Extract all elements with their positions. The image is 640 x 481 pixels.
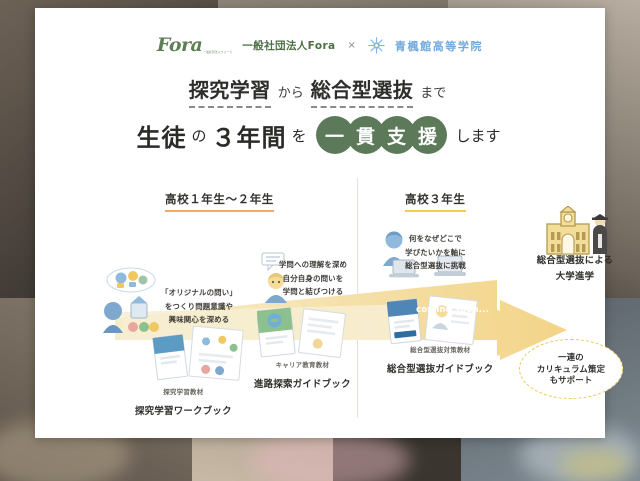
outcome-line-1: 総合型選抜による bbox=[519, 253, 631, 269]
material-1-category: 探究学習教材 bbox=[131, 387, 236, 396]
material-label-admission-guidebook: 総合型選抜対策教材 総合型選抜ガイドブック bbox=[383, 345, 497, 376]
headline-particle-wo: を bbox=[288, 125, 309, 146]
material-2-title: 進路探索ガイドブック bbox=[250, 376, 355, 390]
description-grade-1: 「オリジナルの問い」 をつくり問題意識や 興味関心を深める bbox=[143, 286, 255, 327]
support-line-3: もサポート bbox=[550, 375, 593, 386]
description-grade-2-line-3: 学問と結びつける bbox=[263, 285, 363, 299]
headline-tail-shimasu: します bbox=[453, 125, 504, 146]
outcome-line-2: 大学進学 bbox=[519, 269, 631, 285]
coming-soon-label: coming soon... bbox=[416, 305, 489, 315]
consistent-support-badge-group: 一 貫 支 援 bbox=[316, 116, 447, 154]
pill-char-4: 援 bbox=[409, 116, 447, 154]
curriculum-support-badge: 一連の カリキュラム策定 もサポート bbox=[519, 339, 623, 399]
headline-particle-kara: から bbox=[273, 82, 309, 104]
description-grade-1-line-1: 「オリジナルの問い」 bbox=[143, 286, 255, 300]
description-grade-1-line-3: 興味関心を深める bbox=[143, 313, 255, 327]
fora-logo-subtext: 一般社団法人フォーラ bbox=[203, 50, 232, 54]
outcome-text: 総合型選抜による 大学進学 bbox=[519, 253, 631, 286]
fora-logo: Fora 一般社団法人フォーラ bbox=[157, 36, 232, 55]
headline-students: 生徒 bbox=[136, 118, 186, 153]
bg-blob-pens bbox=[560, 450, 630, 480]
support-line-1: 一連の bbox=[558, 352, 584, 363]
school-emblem-icon bbox=[368, 37, 385, 54]
headline-line-1: 探究学習 から 総合型選抜 まで bbox=[35, 74, 605, 108]
description-grade-2-line-1: 学問への理解を深め bbox=[263, 258, 363, 272]
material-3-category: 総合型選抜対策教材 bbox=[383, 345, 497, 354]
brand-row: Fora 一般社団法人フォーラ 一般社団法人Fora × bbox=[35, 36, 605, 55]
material-3-title: 総合型選抜ガイドブック bbox=[383, 361, 497, 375]
section-header-grade-1-2: 高校１年生〜２年生 bbox=[165, 191, 274, 212]
cross-icon: × bbox=[346, 40, 358, 51]
fora-organization-name: 一般社団法人Fora bbox=[242, 38, 335, 53]
section-header-grade-3: 高校３年生 bbox=[405, 191, 466, 212]
material-label-workbook: 探究学習教材 探究学習ワークブック bbox=[131, 387, 236, 418]
material-label-career-guidebook: キャリア教育教材 進路探索ガイドブック bbox=[250, 360, 355, 391]
description-grade-3-line-3: 総合型選抜に挑戦 bbox=[383, 259, 488, 273]
description-grade-2: 学問への理解を深め 自分自身の問いを 学問と結びつける bbox=[263, 258, 363, 299]
material-2-category: キャリア教育教材 bbox=[250, 360, 355, 369]
school-name: 青楓館高等学院 bbox=[395, 38, 483, 54]
description-grade-3-line-1: 何をなぜどこで bbox=[383, 232, 488, 246]
illustration-workbook-materials bbox=[151, 326, 247, 392]
description-grade-1-line-2: をつくり問題意識や bbox=[143, 300, 255, 314]
description-grade-3: 何をなぜどこで 学びたいかを軸に 総合型選抜に挑戦 bbox=[383, 232, 488, 273]
headline-term-admission: 総合型選抜 bbox=[311, 74, 414, 108]
headline-term-inquiry: 探究学習 bbox=[189, 74, 271, 108]
support-line-2: カリキュラム策定 bbox=[537, 364, 605, 375]
description-grade-2-line-2: 自分自身の問いを bbox=[263, 272, 363, 286]
headline-three-years: ３年間 bbox=[211, 118, 286, 153]
infographic-card: Fora 一般社団法人フォーラ 一般社団法人Fora × bbox=[35, 8, 605, 438]
headline-particle-made: まで bbox=[415, 82, 451, 104]
fora-wordmark: Fora bbox=[157, 36, 202, 55]
headline-line-2: 生徒 の ３年間 を 一 貫 支 援 します bbox=[35, 116, 605, 154]
university-graduate-icon bbox=[537, 206, 613, 260]
material-1-title: 探究学習ワークブック bbox=[131, 403, 236, 417]
description-grade-3-line-2: 学びたいかを軸に bbox=[383, 246, 488, 260]
headline-particle-no: の bbox=[188, 125, 209, 146]
